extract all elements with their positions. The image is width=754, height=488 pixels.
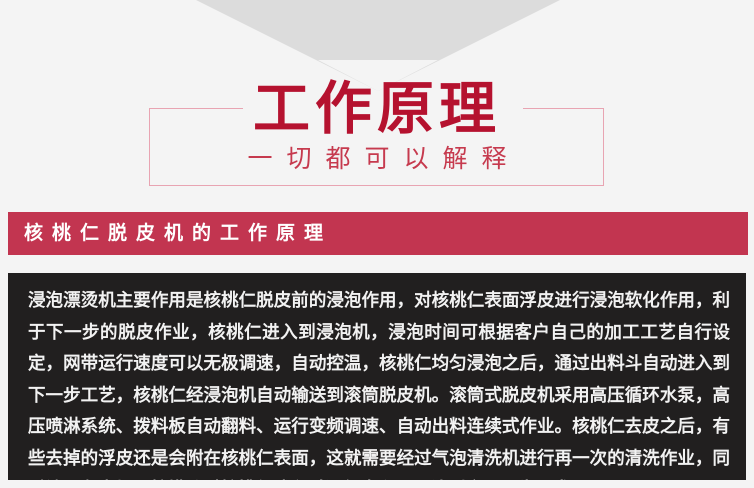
section-banner-label: 核桃仁脱皮机的工作原理	[8, 212, 332, 255]
product-detail-page: 工作原理 一切都可以解释 核桃仁脱皮机的工作原理 浸泡漂烫机主要作用是核桃仁脱皮…	[0, 0, 754, 488]
section-banner: 核桃仁脱皮机的工作原理	[8, 212, 748, 255]
hero-header: 工作原理 一切都可以解释	[0, 0, 754, 202]
page-subtitle: 一切都可以解释	[0, 142, 754, 176]
description-panel: 浸泡漂烫机主要作用是核桃仁脱皮前的浸泡作用，对核桃仁表面浮皮进行浸泡软化作用，利…	[8, 273, 746, 480]
page-title: 工作原理	[0, 78, 754, 140]
description-paragraph: 浸泡漂烫机主要作用是核桃仁脱皮前的浸泡作用，对核桃仁表面浮皮进行浸泡软化作用，利…	[28, 286, 730, 480]
